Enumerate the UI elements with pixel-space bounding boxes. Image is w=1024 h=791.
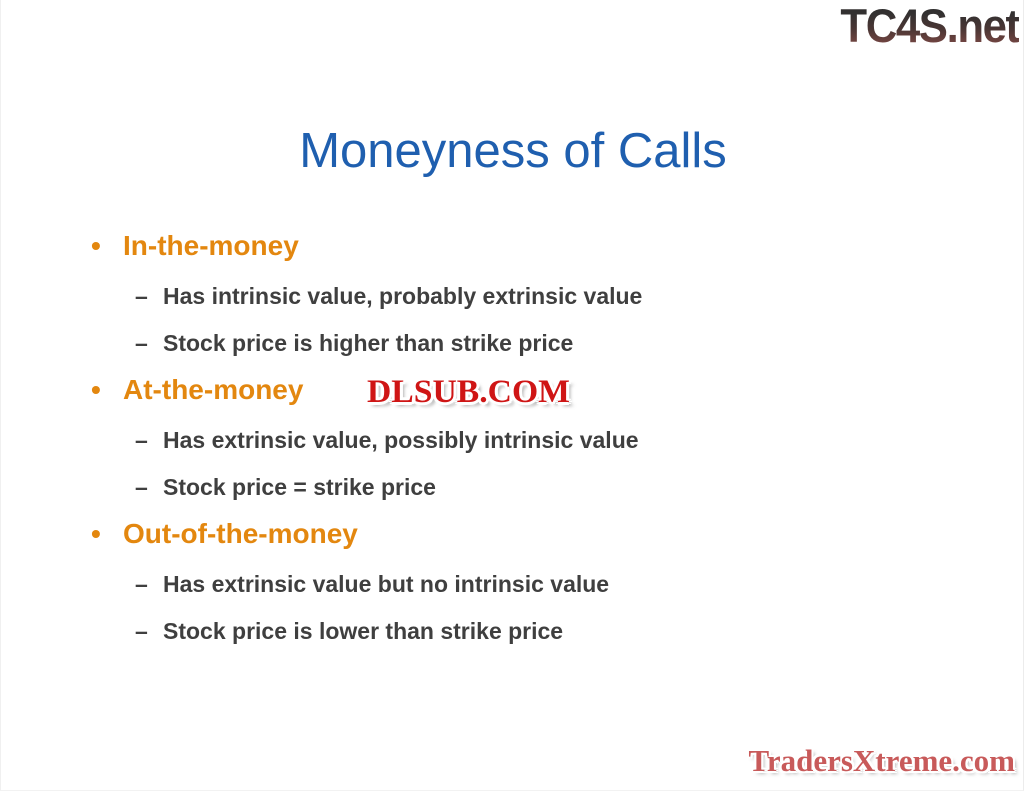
bullet-subitem: – Stock price = strike price	[87, 465, 917, 509]
dash-marker-icon: –	[135, 609, 148, 653]
bullet-heading-label: Out-of-the-money	[123, 518, 358, 549]
bullet-dot-icon: •	[91, 224, 101, 268]
dash-marker-icon: –	[135, 418, 148, 462]
bullet-group-out-of-the-money: • Out-of-the-money – Has extrinsic value…	[87, 512, 917, 653]
bullet-dot-icon: •	[91, 512, 101, 556]
tc4s-watermark: TC4S.net	[841, 0, 1019, 54]
bullet-subitem: – Stock price is lower than strike price	[87, 609, 917, 653]
bullet-subitem-label: Stock price is lower than strike price	[163, 618, 563, 644]
bullet-subitem: – Has extrinsic value but no intrinsic v…	[87, 562, 917, 606]
bullet-subitem: – Has intrinsic value, probably extrinsi…	[87, 274, 917, 318]
bullet-subitem-label: Has extrinsic value, possibly intrinsic …	[163, 427, 639, 453]
bullet-list: • In-the-money – Has intrinsic value, pr…	[87, 224, 917, 656]
bullet-heading-in-the-money: • In-the-money	[87, 224, 917, 268]
bullet-subitem: – Stock price is higher than strike pric…	[87, 321, 917, 365]
bullet-subitem-label: Has intrinsic value, probably extrinsic …	[163, 283, 642, 309]
tradersxtreme-watermark: TradersXtreme.com	[748, 742, 1015, 780]
bullet-heading-label: In-the-money	[123, 230, 299, 261]
dash-marker-icon: –	[135, 465, 148, 509]
bullet-heading-out-of-the-money: • Out-of-the-money	[87, 512, 917, 556]
bullet-subitem-label: Stock price = strike price	[163, 474, 436, 500]
dlsub-watermark: DLSUB.COM	[367, 372, 570, 412]
bullet-group-in-the-money: • In-the-money – Has intrinsic value, pr…	[87, 224, 917, 365]
bullet-subitem-label: Stock price is higher than strike price	[163, 330, 573, 356]
dash-marker-icon: –	[135, 274, 148, 318]
bullet-dot-icon: •	[91, 368, 101, 412]
dash-marker-icon: –	[135, 321, 148, 365]
dash-marker-icon: –	[135, 562, 148, 606]
presentation-slide: TC4S.net Moneyness of Calls • In-the-mon…	[0, 0, 1024, 791]
page-title: Moneyness of Calls	[1, 122, 1024, 180]
bullet-heading-label: At-the-money	[123, 374, 303, 405]
bullet-subitem: – Has extrinsic value, possibly intrinsi…	[87, 418, 917, 462]
bullet-subitem-label: Has extrinsic value but no intrinsic val…	[163, 571, 609, 597]
